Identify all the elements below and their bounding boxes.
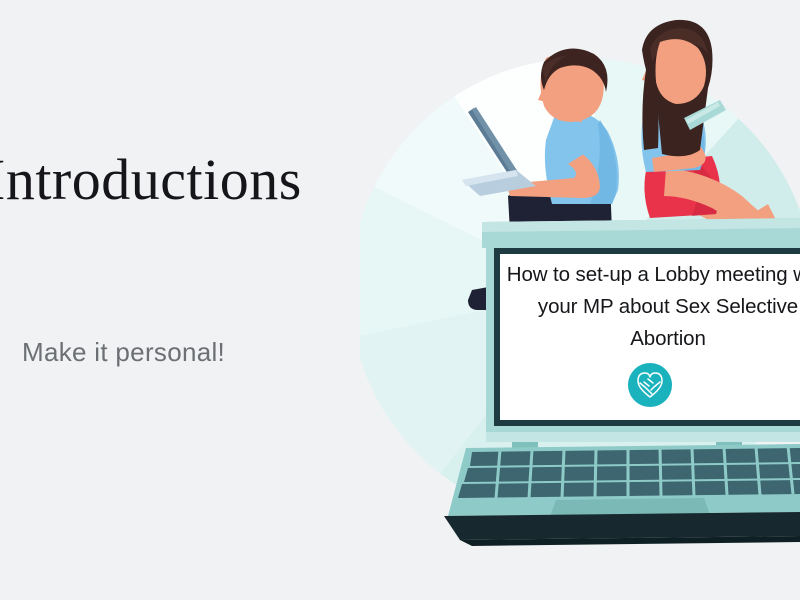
giant-laptop — [444, 218, 800, 546]
page-title: Introductions — [0, 150, 406, 211]
slide-canvas: Introductions Make it personal! — [0, 0, 800, 600]
illustration-two-people-on-laptop — [360, 0, 800, 600]
handshake-heart-icon — [628, 363, 672, 407]
slide-subtitle: Make it personal! — [22, 337, 402, 368]
subtitle-block: Make it personal! — [22, 337, 402, 368]
title-block: Introductions — [0, 150, 406, 211]
